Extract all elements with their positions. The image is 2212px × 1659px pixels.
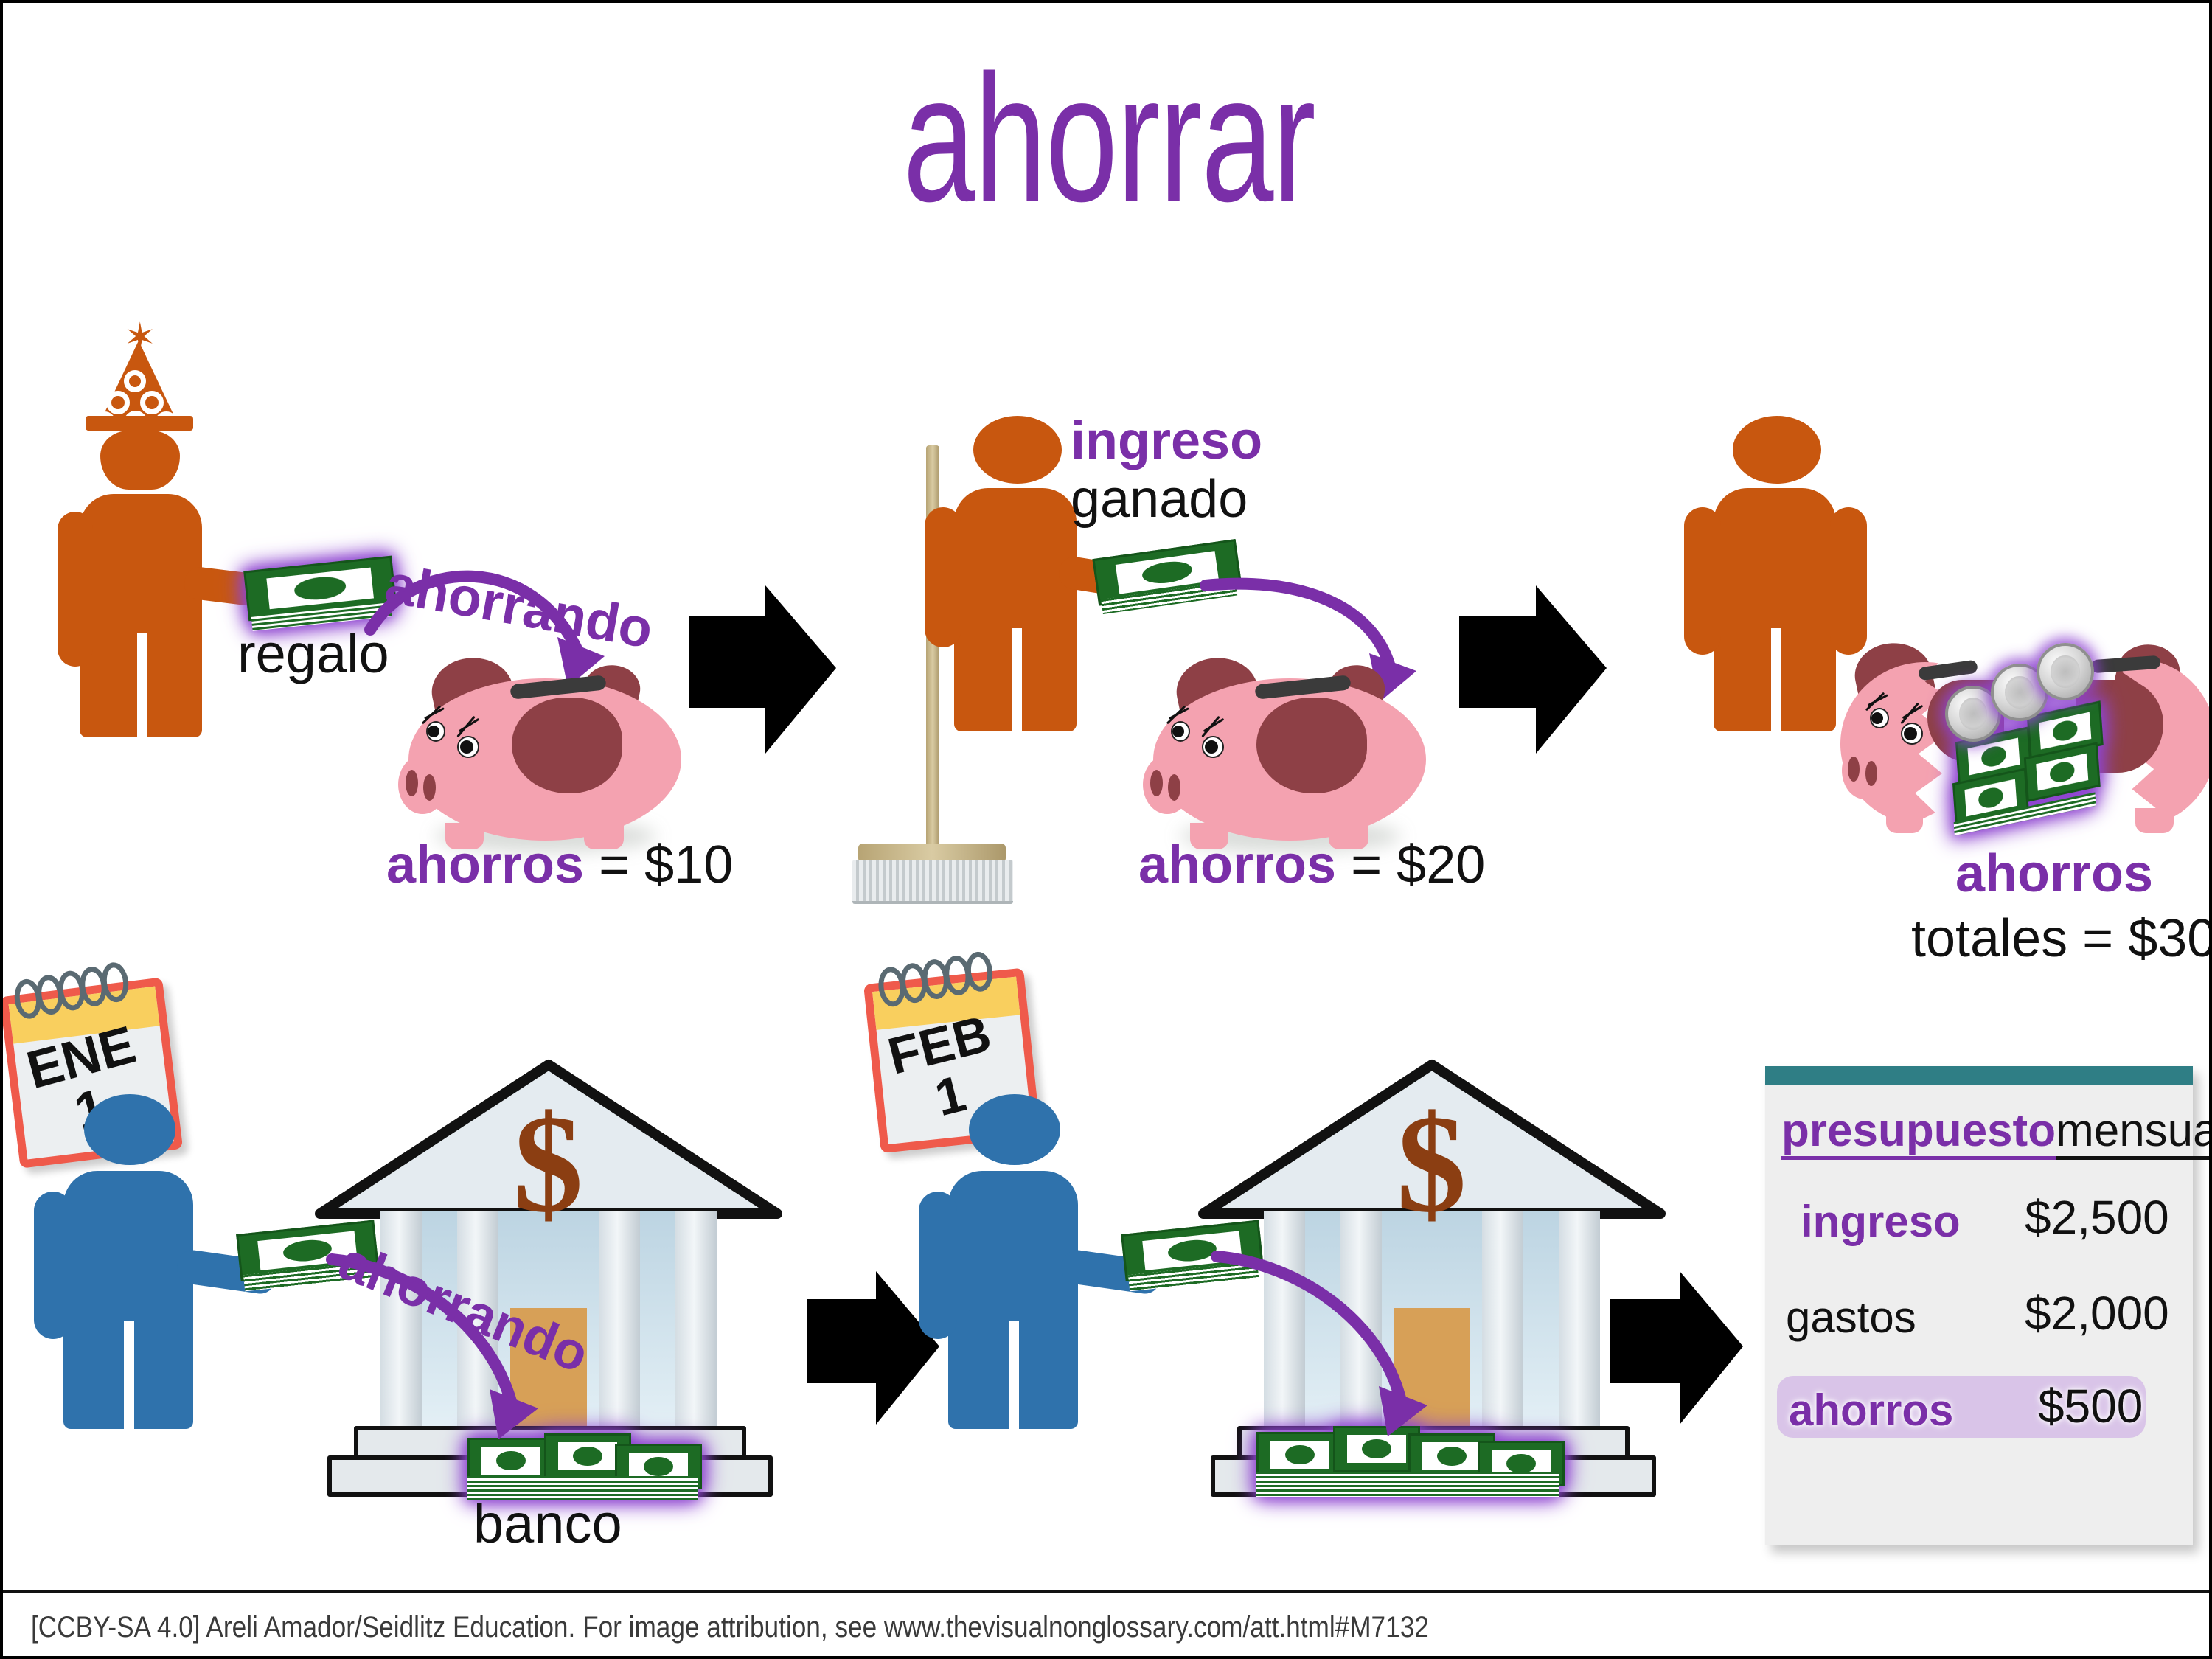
- ahorros-label: ahorros: [386, 835, 584, 894]
- person-left-arm: [58, 512, 93, 667]
- budget-card-title: presupuestomensual: [1781, 1105, 2212, 1157]
- broken-piggy-bank-icon: [1846, 637, 2212, 873]
- flow-arrow-right-icon: [1459, 585, 1607, 755]
- footer-divider: [3, 1590, 2212, 1593]
- piggy-nostril: [423, 774, 436, 801]
- person-right-arm: [1830, 507, 1867, 655]
- budget-row-label: ahorros: [1789, 1385, 1953, 1436]
- person-icon: [929, 1094, 1180, 1610]
- person-leg-gap: [1771, 628, 1781, 752]
- flow-arrow-right-icon: [689, 585, 836, 755]
- person-left-arm: [1684, 507, 1721, 655]
- ahorros-label: ahorros: [1955, 844, 2153, 904]
- party-hat-dot-icon: [124, 370, 146, 392]
- budget-card-header-bar: [1765, 1066, 2193, 1085]
- person-head: [100, 431, 180, 490]
- budget-row-value: $2,500: [2025, 1190, 2169, 1245]
- person-head: [84, 1094, 175, 1165]
- person-leg-gap: [124, 1321, 134, 1453]
- piggy-pupil: [1205, 740, 1218, 754]
- page-title: ahorrar: [313, 46, 1905, 230]
- piggy-pupil: [460, 740, 473, 754]
- piggy-pupil: [1172, 726, 1184, 737]
- person-left-arm: [925, 507, 961, 647]
- party-hat-brim-icon: [86, 416, 193, 431]
- piggy-nostril: [1865, 761, 1877, 786]
- panel2-income-labels: ingreso ganado: [1071, 412, 1262, 529]
- person-leg-gap: [137, 633, 147, 751]
- piggy-patch: [1256, 698, 1367, 793]
- panel2-savings-total: ahorros = $20: [1138, 835, 1485, 895]
- person-icon: [44, 1094, 295, 1610]
- bank-column: [599, 1211, 640, 1432]
- person-head: [1733, 416, 1821, 484]
- piggy-nostril: [1168, 774, 1180, 801]
- ahorros-label: ahorros: [1138, 835, 1336, 894]
- budget-row-label: ingreso: [1801, 1196, 1961, 1247]
- bank-column: [1482, 1211, 1523, 1432]
- budget-row-value: $500: [2038, 1379, 2143, 1433]
- person-left-arm: [34, 1192, 72, 1339]
- ahorros-amount: = $20: [1351, 835, 1485, 894]
- infographic-page: ahorrar ✶ regalo ahorrando: [0, 0, 2212, 1659]
- banco-label: banco: [473, 1492, 622, 1555]
- ingreso-label: ingreso: [1071, 412, 1262, 470]
- party-hat-dot-icon: [140, 391, 164, 414]
- mensual-label: mensual: [2056, 1105, 2212, 1160]
- person-head: [973, 416, 1062, 484]
- piggy-pupil: [428, 726, 439, 737]
- ahorros-totales-amount: totales = $30: [1911, 908, 2212, 969]
- bank-column: [1559, 1211, 1600, 1432]
- coin-icon: [2037, 643, 2094, 700]
- person-head: [969, 1094, 1060, 1165]
- monthly-budget-card: presupuestomensual ingreso $2,500 gastos…: [1765, 1066, 2193, 1545]
- piggy-pupil: [1871, 712, 1883, 724]
- person-leg-gap: [1012, 628, 1022, 752]
- panel1-savings-total: ahorros = $10: [386, 835, 733, 895]
- budget-row-label: gastos: [1786, 1292, 1916, 1343]
- budget-row-value: $2,000: [2025, 1286, 2169, 1340]
- attribution-footer: [CCBY-SA 4.0] Areli Amador/Seidlitz Educ…: [31, 1611, 1429, 1644]
- piggy-patch: [512, 698, 622, 793]
- presupuesto-label: presupuesto: [1781, 1105, 2056, 1160]
- ahorros-amount: = $10: [599, 835, 733, 894]
- party-hat-star-icon: ✶: [124, 319, 156, 357]
- party-hat-dot-icon: [106, 391, 130, 414]
- dollar-symbol-icon: $: [513, 1094, 583, 1234]
- piggy-nostril: [1150, 770, 1163, 796]
- person-left-arm: [919, 1192, 957, 1339]
- flow-arrow-right-icon: [1610, 1271, 1743, 1426]
- deposit-curve-arrow-icon: [1212, 1242, 1478, 1463]
- bank-column: [675, 1211, 717, 1432]
- piggy-pupil: [1904, 727, 1917, 740]
- piggy-nostril: [406, 770, 418, 796]
- dollar-symbol-icon: $: [1397, 1094, 1467, 1234]
- ganado-label: ganado: [1071, 470, 1262, 529]
- piggy-nostril: [1848, 757, 1860, 782]
- person-leg-gap: [1009, 1321, 1019, 1453]
